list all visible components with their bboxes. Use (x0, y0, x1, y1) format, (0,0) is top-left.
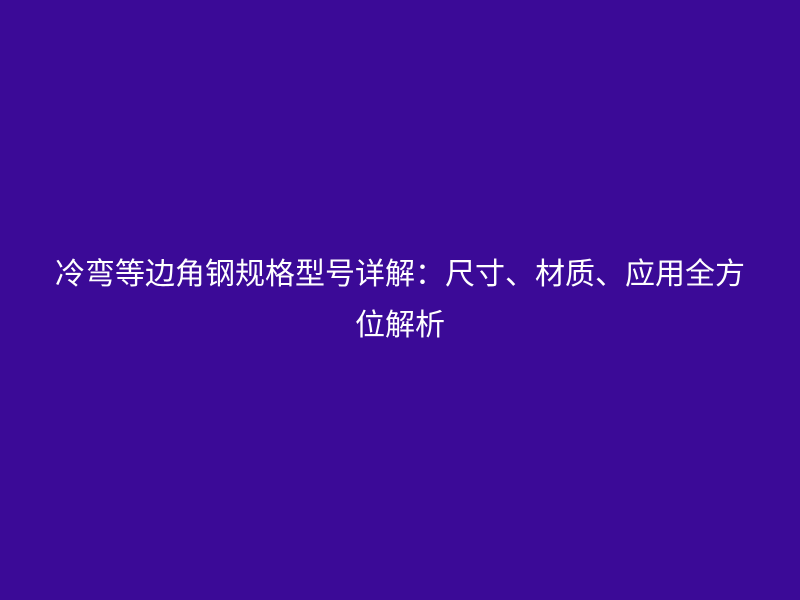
title-block: 冷弯等边角钢规格型号详解：尺寸、材质、应用全方位解析 (55, 249, 745, 351)
page-title: 冷弯等边角钢规格型号详解：尺寸、材质、应用全方位解析 (55, 249, 745, 351)
title-card: 冷弯等边角钢规格型号详解：尺寸、材质、应用全方位解析 (0, 0, 800, 600)
